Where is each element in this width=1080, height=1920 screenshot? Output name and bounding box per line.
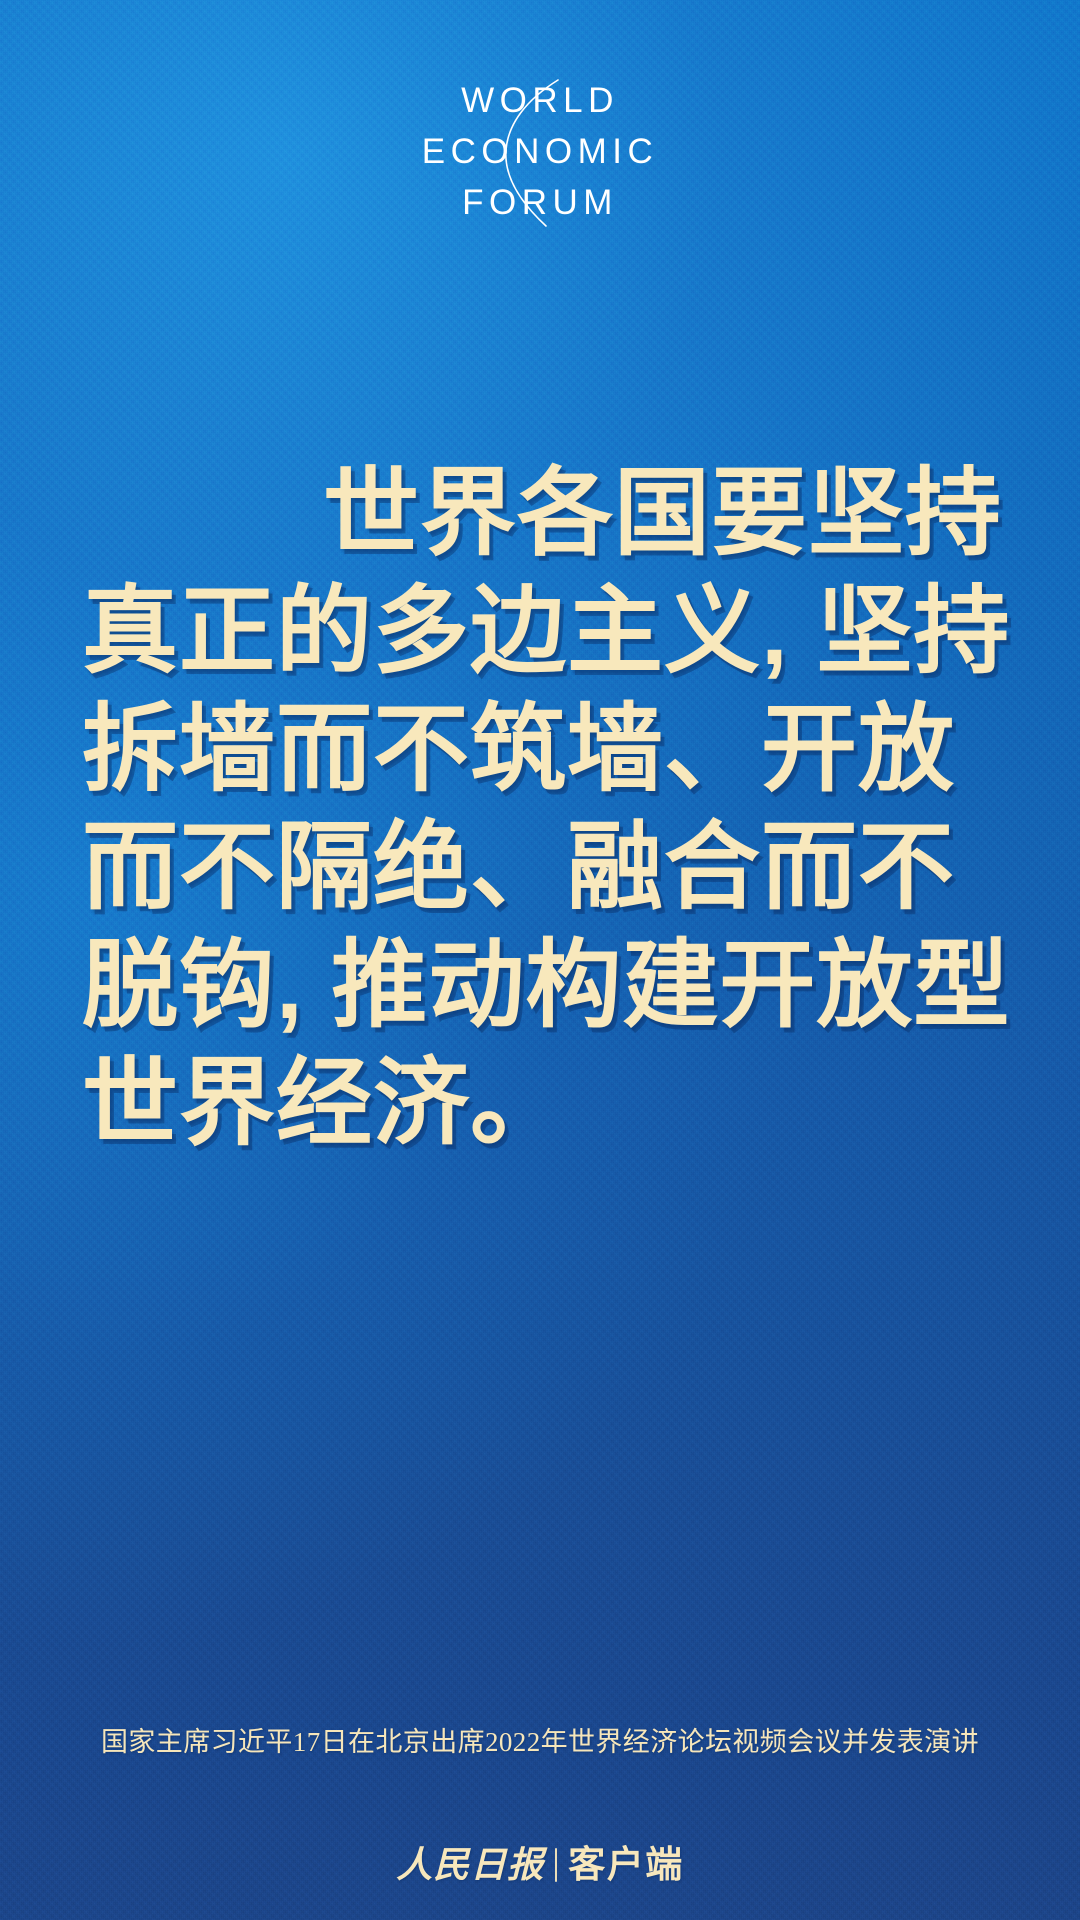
publisher-brand: 人民日报 客户端 <box>0 1846 1080 1883</box>
brand-divider <box>555 1848 557 1882</box>
wef-logo-line-world: WORLD <box>461 81 619 120</box>
publisher-name: 人民日报 <box>396 1847 555 1883</box>
poster-root: WORLD ECONOMIC FORUM 世界各国要坚持 真正的多边主义, 坚持… <box>0 0 1080 1920</box>
headline-quote: 世界各国要坚持 真正的多边主义, 坚持 拆墙而不筑墙、开放 而不隔绝、融合而不 … <box>0 455 1080 1163</box>
headline-line: 真正的多边主义, 坚持 <box>0 573 1080 691</box>
product-name: 客户端 <box>568 1846 684 1883</box>
headline-line: 世界各国要坚持 <box>0 455 1080 573</box>
headline-line: 脱钩, 推动构建开放型 <box>0 927 1080 1045</box>
wef-logo-line-forum: FORUM <box>462 183 618 222</box>
caption-text: 国家主席习近平17日在北京出席2022年世界经济论坛视频会议并发表演讲 <box>101 1727 979 1757</box>
headline-line: 而不隔绝、融合而不 <box>0 809 1080 927</box>
caption: 国家主席习近平17日在北京出席2022年世界经济论坛视频会议并发表演讲 <box>0 1720 1080 1759</box>
headline-line: 拆墙而不筑墙、开放 <box>0 691 1080 809</box>
wef-logo-line-economic: ECONOMIC <box>422 132 659 171</box>
headline-line: 世界经济。 <box>0 1045 1080 1163</box>
world-economic-forum-logo: WORLD ECONOMIC FORUM <box>0 78 1080 228</box>
wef-logo-svg: WORLD ECONOMIC FORUM <box>330 78 750 228</box>
